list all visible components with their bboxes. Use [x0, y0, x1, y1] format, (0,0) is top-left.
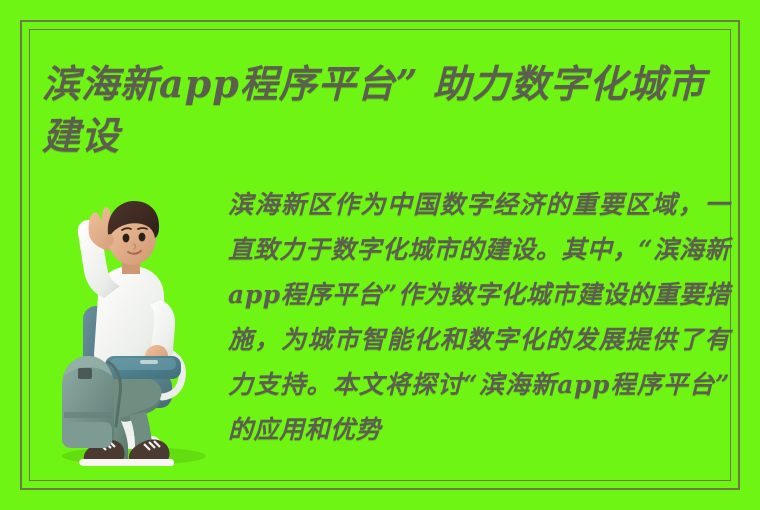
body-paragraph: 滨海新区作为中国数字经济的重要区域，一直致力于数字化城市的建设。其中，“滨海新a…: [228, 182, 730, 452]
eye-left-icon: [123, 234, 130, 243]
eye-right-icon: [139, 233, 146, 242]
desk-tablet-arm: [105, 356, 181, 379]
student-illustration: [42, 178, 222, 470]
poster-canvas: 滨海新app程序平台” 助力数字化城市建设 滨海新区作为中国数字经济的重要区域，…: [0, 0, 760, 510]
page-title: 滨海新app程序平台” 助力数字化城市建设: [42, 58, 718, 162]
student-raising-hand-icon: [42, 178, 222, 470]
